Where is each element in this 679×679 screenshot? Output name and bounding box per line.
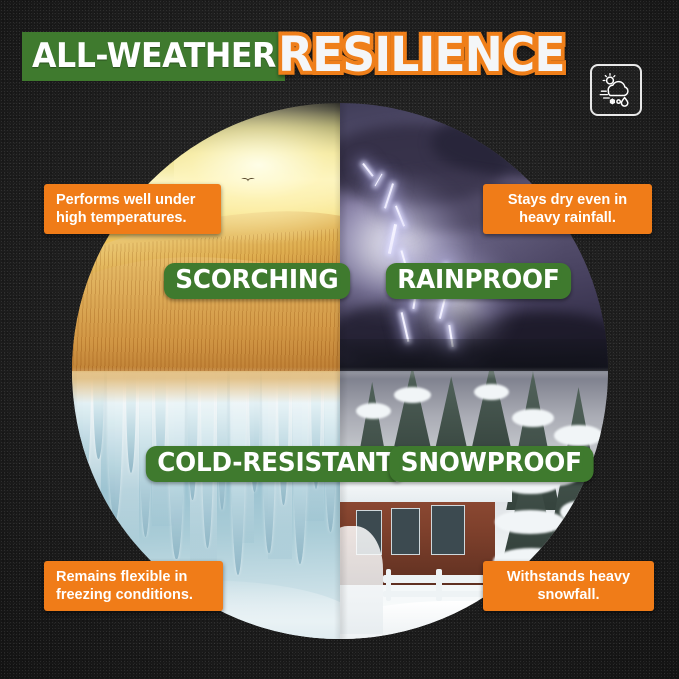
quadrant-label-snowproof: SNOWPROOF bbox=[389, 446, 593, 482]
header-title-primary: ALL-WEATHER bbox=[32, 39, 276, 73]
header-title-secondary: RESILIENCE bbox=[278, 29, 565, 81]
caption-snowproof: Withstands heavy snowfall. bbox=[483, 561, 654, 611]
bird-silhouette-icon bbox=[241, 178, 255, 185]
caption-rainproof: Stays dry even in heavy rainfall. bbox=[483, 184, 652, 234]
quadrant-label-scorching: SCORCHING bbox=[164, 263, 350, 299]
quadrant-scorching-image bbox=[72, 103, 340, 371]
caption-cold-resistant: Remains flexible in freezing conditions. bbox=[44, 561, 223, 611]
quadrant-label-rainproof: RAINPROOF bbox=[386, 263, 571, 299]
infographic-canvas: ALL-WEATHER RESILIENCE bbox=[0, 0, 679, 679]
quadrant-label-cold-resistant: COLD-RESISTANT bbox=[146, 446, 404, 482]
caption-scorching: Performs well under high temperatures. bbox=[44, 184, 221, 234]
quadrant-rainproof-image bbox=[340, 103, 608, 371]
header-banner: ALL-WEATHER RESILIENCE bbox=[0, 28, 679, 90]
